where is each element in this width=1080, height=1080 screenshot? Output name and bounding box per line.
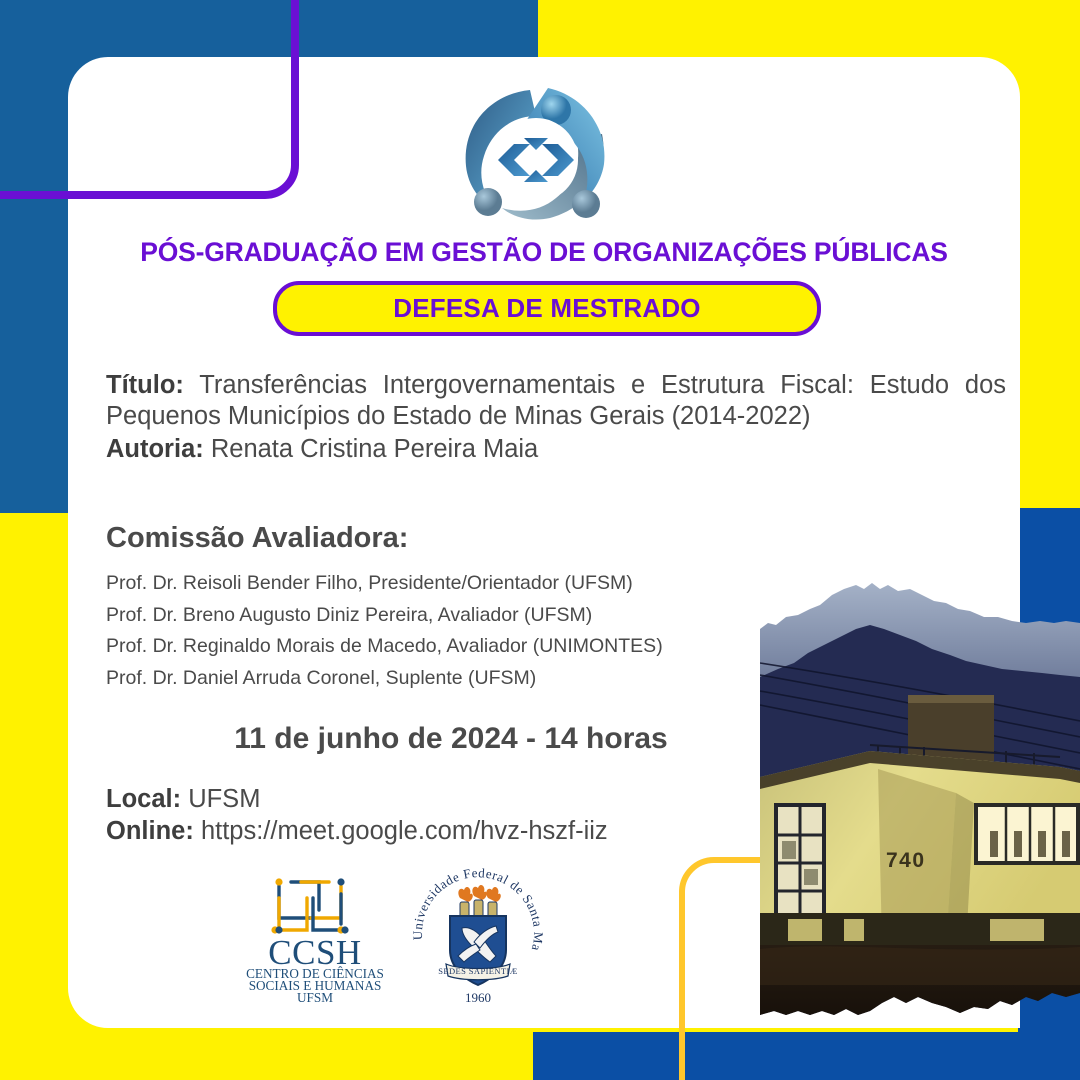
ccsh-logo: CCSH CENTRO DE CIÊNCIAS SOCIAIS E HUMANA… [245,872,385,1004]
online-link[interactable]: https://meet.google.com/hvz-hszf-iiz [201,817,608,845]
ufsm-torches-icon [458,885,500,918]
emblem-node-left [474,188,502,216]
event-location-block: Local: UFSM Online: https://meet.google.… [106,783,866,847]
thesis-title-label: Título: [106,371,184,399]
program-emblem-icon [452,82,628,228]
committee-list: Prof. Dr. Reisoli Bender Filho, Presiden… [106,568,806,694]
list-item: Prof. Dr. Reginaldo Morais de Macedo, Av… [106,631,806,663]
poster-canvas: 740 [0,0,1080,1080]
right-window-strip [974,803,1080,865]
ufsm-motto-text: SEDES SAPIENTIÆ [438,966,517,976]
author-line: Autoria: Renata Cristina Pereira Maia [106,433,1006,466]
emblem-node-right [572,190,600,218]
place-value: UFSM [188,785,260,813]
ufsm-logo: Universidade Federal de Santa Maria SE [408,868,548,1008]
page-title: PÓS-GRADUAÇÃO EM GESTÃO DE ORGANIZAÇÕES … [68,237,1020,268]
place-label: Local: [106,785,181,813]
building-number-label: 740 [886,849,926,872]
list-item: Prof. Dr. Breno Augusto Diniz Pereira, A… [106,600,806,632]
ccsh-mark-icon [271,878,348,933]
event-datetime: 11 de junho de 2024 - 14 horas [106,722,796,756]
committee-heading: Comissão Avaliadora: [106,522,408,555]
list-item: Prof. Dr. Reisoli Bender Filho, Presiden… [106,568,806,600]
status-badge: DEFESA DE MESTRADO [273,281,821,336]
event-online-line: Online: https://meet.google.com/hvz-hszf… [106,815,866,847]
list-item: Prof. Dr. Daniel Arruda Coronel, Suplent… [106,663,806,695]
author-label: Autoria: [106,435,204,463]
event-place-line: Local: UFSM [106,783,866,815]
work-details: Título: Transferências Intergovernamenta… [106,370,1006,466]
author-value: Renata Cristina Pereira Maia [211,435,538,463]
thesis-title-line: Título: Transferências Intergovernamenta… [106,370,1006,432]
ccsh-line3: UFSM [297,990,333,1004]
thesis-title-value: Transferências Intergovernamentais e Est… [106,371,1006,430]
online-label: Online: [106,817,194,845]
ufsm-year: 1960 [465,990,491,1005]
